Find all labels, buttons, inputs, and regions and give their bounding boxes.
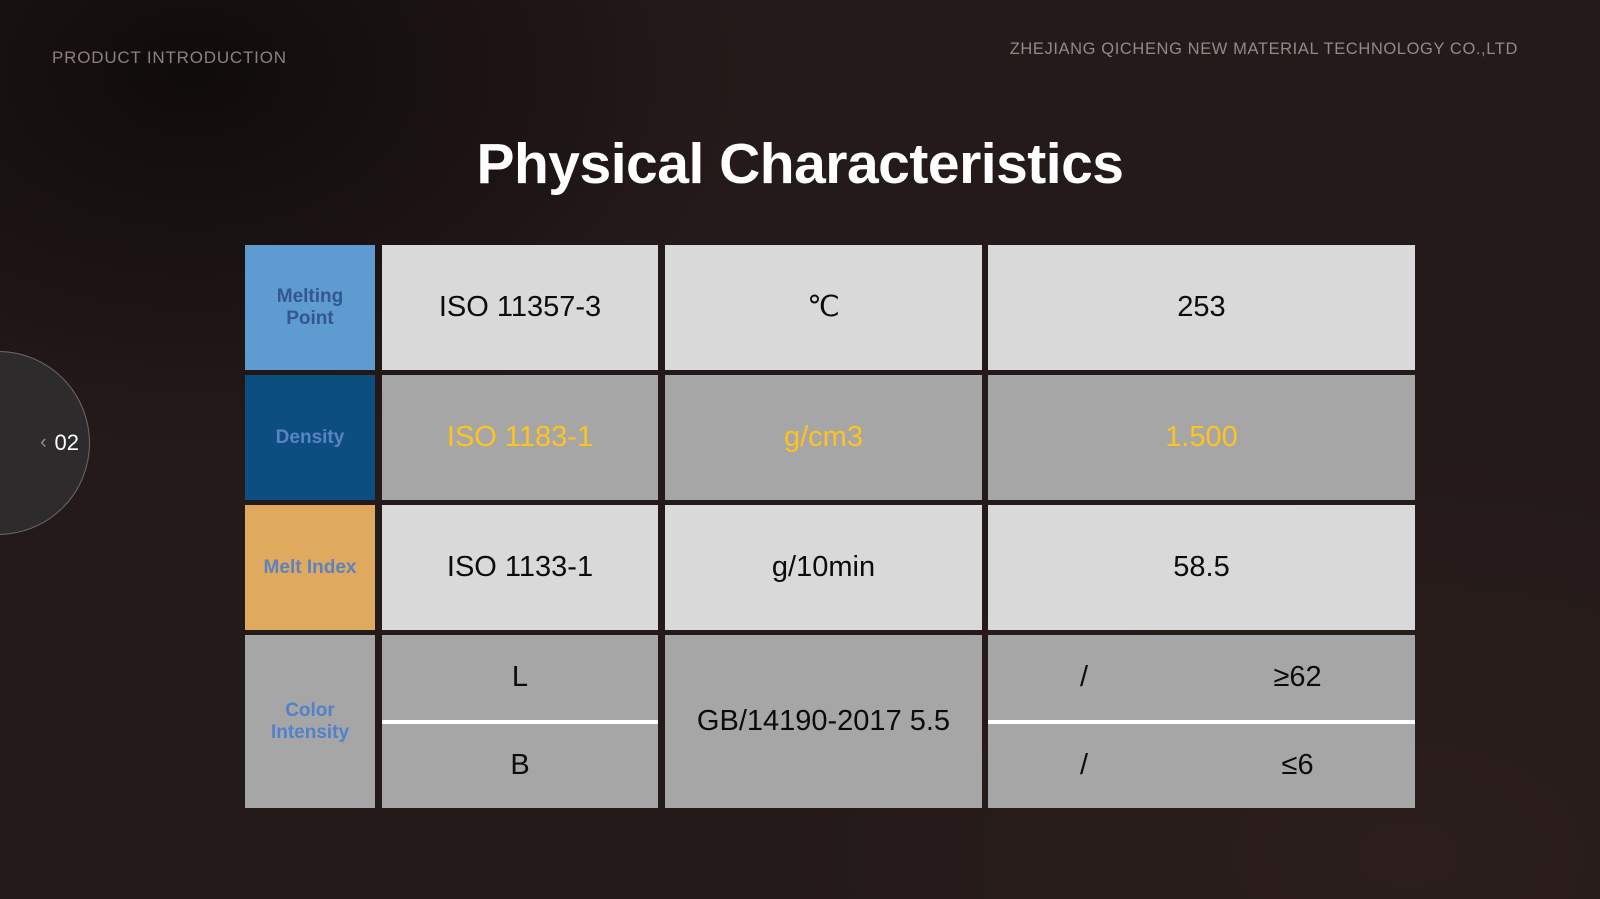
page-title: Physical Characteristics xyxy=(0,131,1600,197)
label-line-1: Melt Index xyxy=(264,557,357,579)
table-row-label-density: Density xyxy=(245,375,375,500)
label-line-1: Color xyxy=(271,700,349,722)
cell-value-melt-index: 58.5 xyxy=(988,505,1415,630)
standard-color-intensity-top: L xyxy=(382,635,658,720)
table-row-label-melt-index: Melt Index xyxy=(245,505,375,630)
label-line-1: Density xyxy=(276,427,345,449)
cell-standard-melt-index: ISO 1133-1 xyxy=(382,505,658,630)
cell-standard-color-intensity: L B xyxy=(382,635,658,808)
cell-standard-density: ISO 1183-1 xyxy=(382,375,658,500)
slide-number: 02 xyxy=(55,432,79,454)
cell-unit-density: g/cm3 xyxy=(665,375,982,500)
value-color-intensity-top: / ≥62 xyxy=(988,635,1415,720)
standard-color-intensity-bottom: B xyxy=(382,724,658,809)
value-color-intensity-bottom: / ≤6 xyxy=(988,724,1415,809)
chevron-left-icon: ‹ xyxy=(40,433,46,452)
badge-content: ‹ 02 xyxy=(40,432,79,454)
value-bottom-left: / xyxy=(988,749,1180,782)
cell-value-color-intensity: / ≥62 / ≤6 xyxy=(988,635,1415,808)
value-pair-bottom: / ≤6 xyxy=(988,724,1415,809)
value-top-left: / xyxy=(988,661,1180,694)
company-name: ZHEJIANG QICHENG NEW MATERIAL TECHNOLOGY… xyxy=(1010,40,1518,59)
slide-canvas: PRODUCT INTRODUCTION ZHEJIANG QICHENG NE… xyxy=(0,0,1600,899)
slide-kicker: PRODUCT INTRODUCTION xyxy=(52,48,287,68)
value-top-right: ≥62 xyxy=(1180,661,1415,694)
table-row-label-melting-point: Melting Point xyxy=(245,245,375,370)
label-line-2: Intensity xyxy=(271,722,349,744)
value-bottom-right: ≤6 xyxy=(1180,749,1415,782)
cell-unit-color-intensity: GB/14190-2017 5.5 xyxy=(665,635,982,808)
slide-number-badge[interactable]: ‹ 02 xyxy=(0,351,90,535)
cell-standard-melting-point: ISO 11357-3 xyxy=(382,245,658,370)
value-pair-top: / ≥62 xyxy=(988,635,1415,720)
cell-unit-melting-point: ℃ xyxy=(665,245,982,370)
table-row-label-color-intensity: Color Intensity xyxy=(245,635,375,808)
cell-unit-melt-index: g/10min xyxy=(665,505,982,630)
label-line-1: Melting xyxy=(277,286,344,308)
label-line-2: Point xyxy=(277,308,344,330)
cell-value-melting-point: 253 xyxy=(988,245,1415,370)
physical-characteristics-table: Melting Point ISO 11357-3 ℃ 253 Density … xyxy=(245,245,1415,808)
cell-value-density: 1.500 xyxy=(988,375,1415,500)
